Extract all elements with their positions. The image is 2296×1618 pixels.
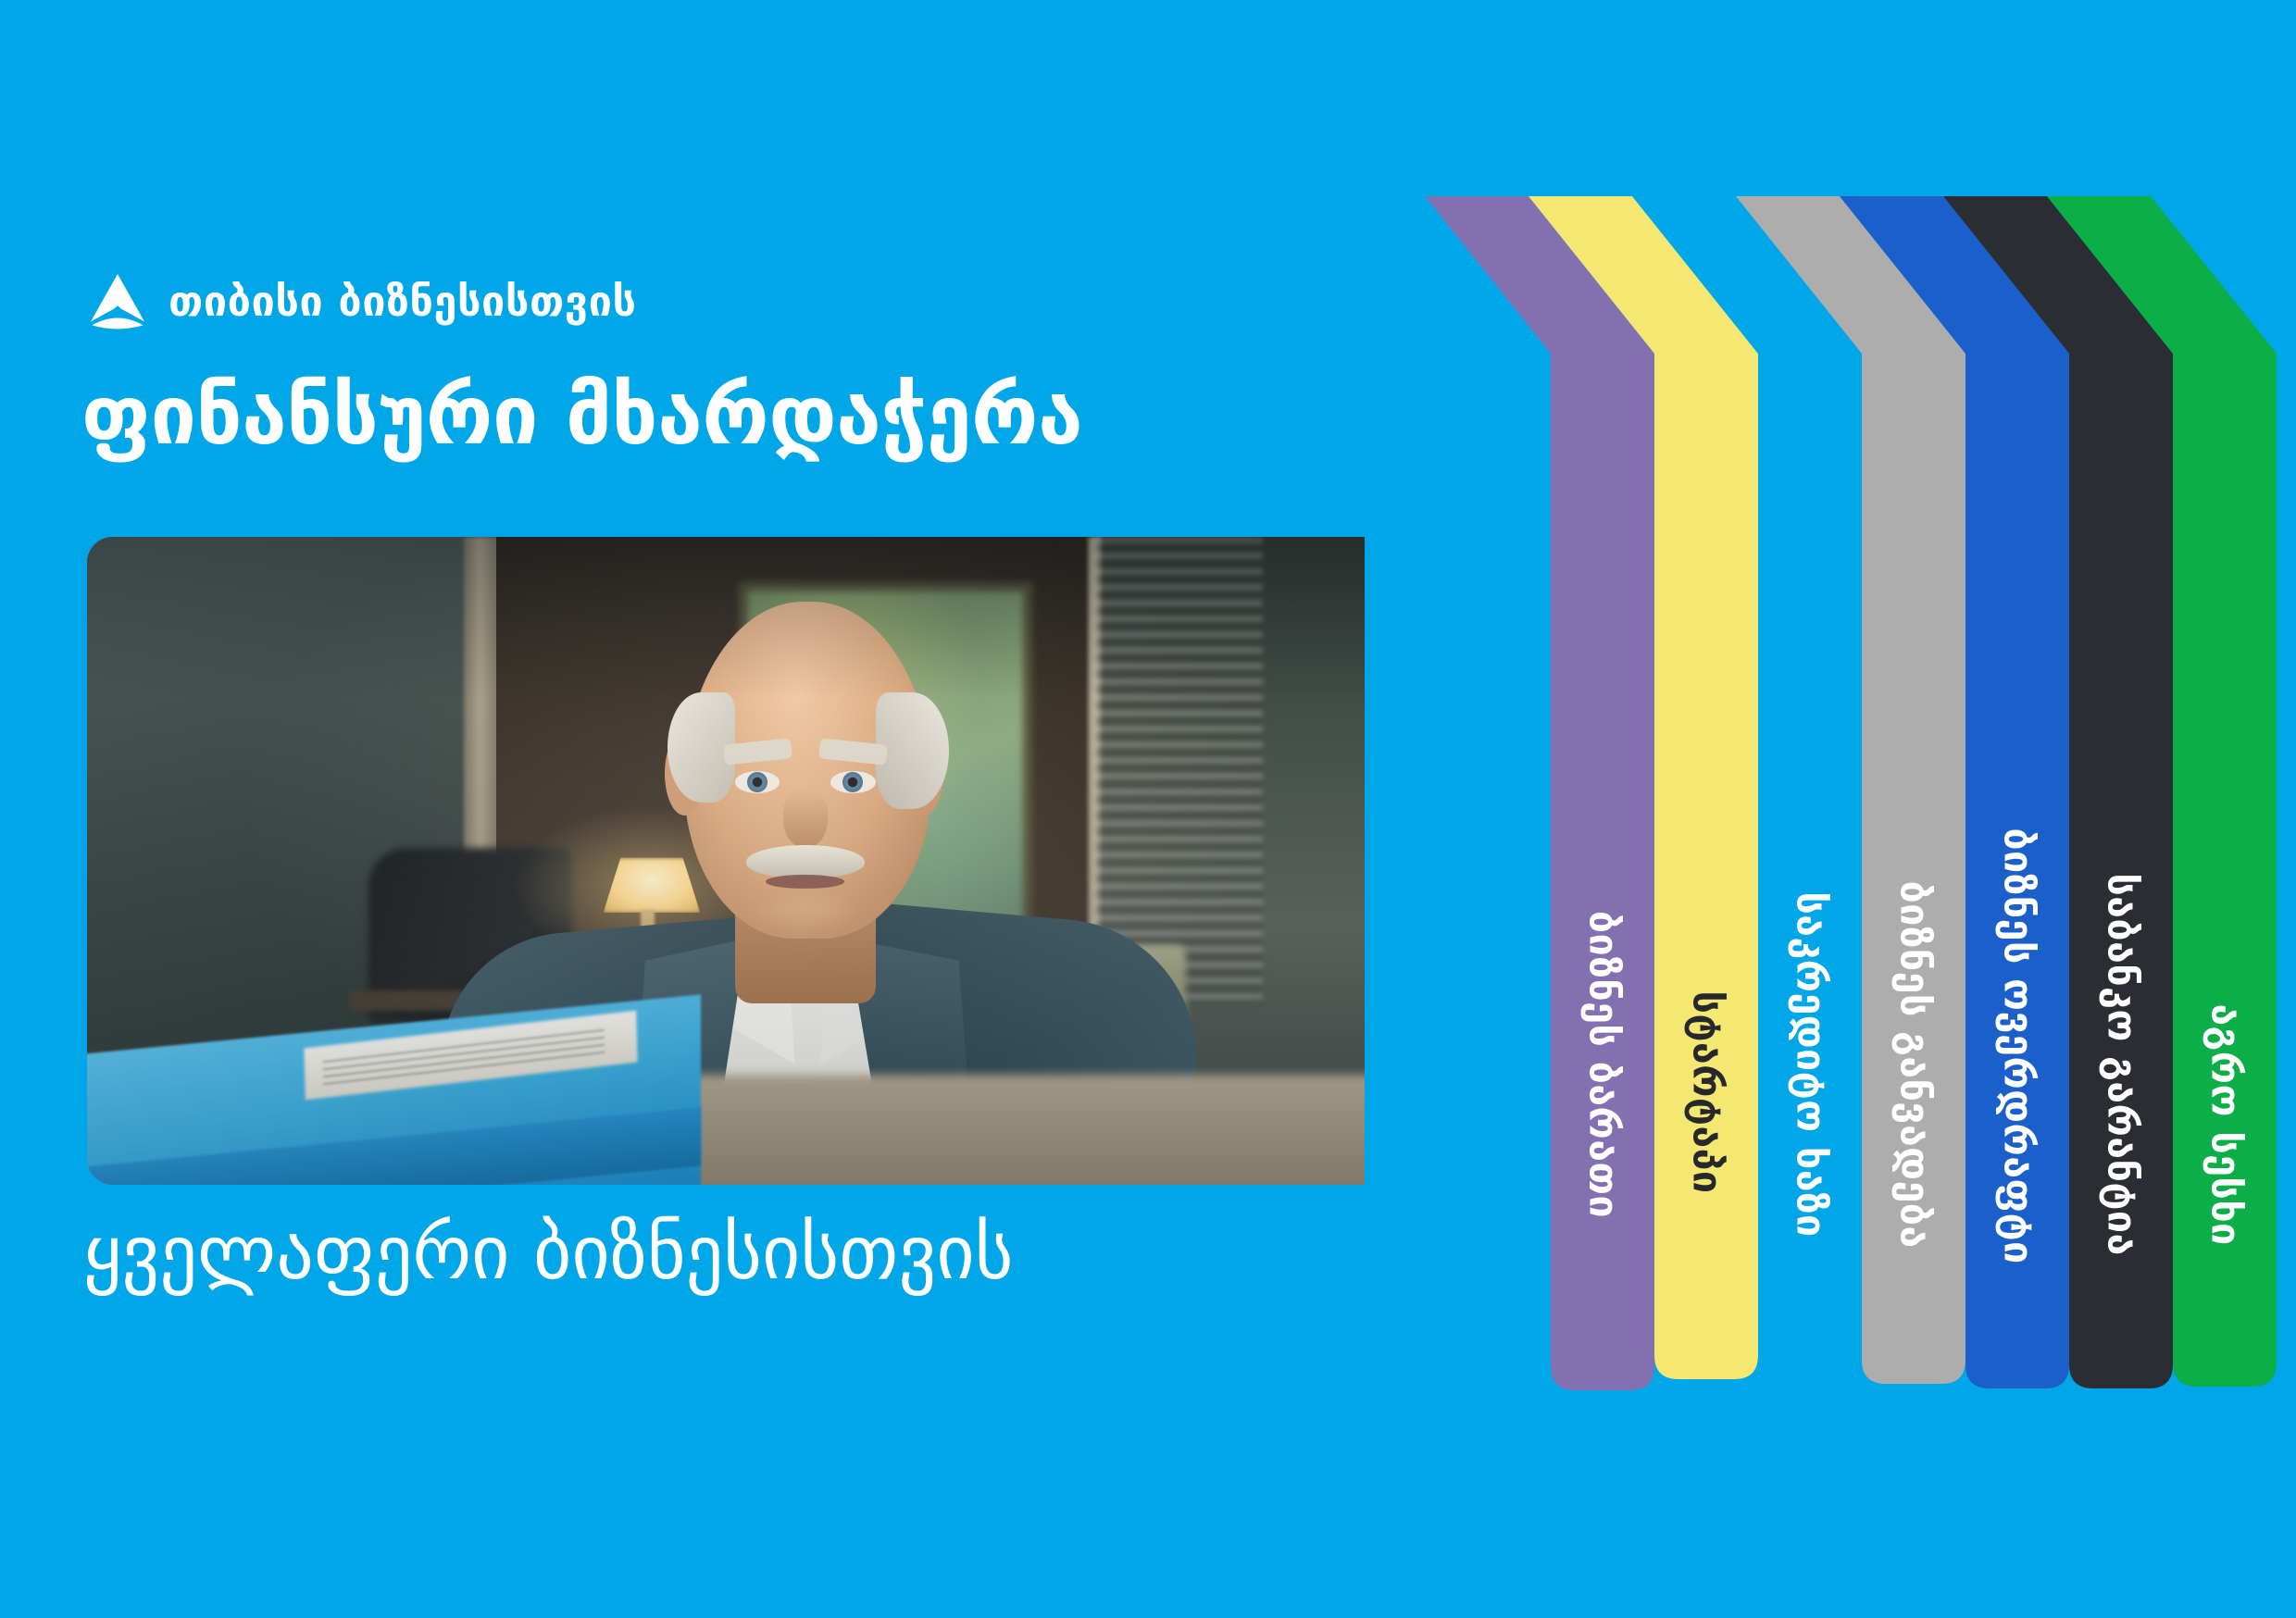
product-ribbon[interactable]: საკრედიტო ხაზი [1632,0,1865,1378]
photo-mustache [746,845,865,878]
brand-logo[interactable]: თიბისი ბიზნესისთვის [87,270,637,331]
product-ribbon-label: აგრო სესხი [2205,1003,2245,1245]
product-ribbon-shape [1943,0,2177,1392]
page-subtitle: ყველაფერი ბიზნესისთვის [83,1213,1014,1294]
photo-chin [752,887,858,932]
brand-logo-text: თიბისი ბიზნესისთვის [168,280,637,322]
product-ribbon-label: ბიზნეს ბარათი [1583,911,1623,1218]
product-ribbon-shape [2047,0,2280,1390]
product-ribbon[interactable]: ბიზნეს განვადება [1736,0,1969,1388]
product-ribbon-label: სტარტაპი [1687,991,1727,1194]
hero-photo [87,537,1365,1185]
product-ribbon[interactable]: საბანკო გარანტია [1943,0,2177,1392]
product-ribbon-label: ბიზნეს ოვერდრაფტი [1998,828,2038,1263]
hero-photo-scene [87,537,1365,1185]
product-ribbon-shape [1840,0,2073,1392]
product-ribbon-label: საბანკო გარანტია [2102,873,2141,1255]
product-ribbon-shape [1632,0,1865,1378]
product-ribbon[interactable]: ბიზნეს ოვერდრაფტი [1840,0,2073,1392]
photo-nose [783,790,829,848]
page-title: ფინანსური მხარდაჭერა [81,370,1082,462]
product-ribbon-label: ბიზნეს განვადება [1894,880,1934,1248]
product-ribbon[interactable]: ბიზნეს ბარათი [1425,0,1658,1394]
tbc-triangle-logo-icon [87,270,148,331]
product-ribbon-shape [1425,0,1658,1394]
photo-window-blinds [1096,537,1262,1003]
product-ribbon-label: საკრედიტო ხაზი [1791,891,1830,1237]
product-ribbon[interactable]: სტარტაპი [1529,0,1762,1383]
product-ribbon[interactable]: აგრო სესხი [2047,0,2280,1390]
promo-banner: თიბისი ბიზნესისთვის ფინანსური მხარდაჭერა [0,0,2296,1618]
product-ribbon-shape [1529,0,1762,1383]
product-ribbon-shape [1736,0,1969,1388]
